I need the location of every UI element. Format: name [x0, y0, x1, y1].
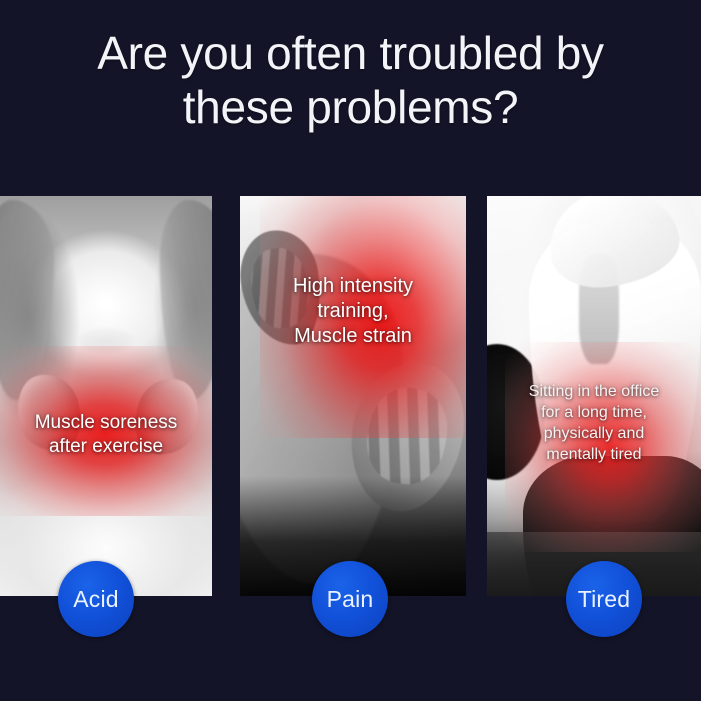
photo-arm-right	[160, 200, 212, 400]
photo-arm-left	[0, 200, 54, 400]
problem-panel-strip: Muscle soreness after exercise High inte…	[0, 196, 701, 596]
panel-tired[interactable]: Sitting in the office for a long time, p…	[487, 196, 701, 596]
panel-acid[interactable]: Muscle soreness after exercise	[0, 196, 212, 596]
panel-caption: High intensity training, Muscle strain	[240, 274, 466, 349]
page-title: Are you often troubled by these problems…	[0, 26, 701, 134]
panel-caption: Sitting in the office for a long time, p…	[487, 381, 701, 465]
panel-caption: Muscle soreness after exercise	[0, 411, 212, 459]
photo-hands-gripping-knee	[240, 196, 466, 596]
panel-pain[interactable]: High intensity training, Muscle strain	[240, 196, 466, 596]
badge-pain[interactable]: Pain	[312, 561, 388, 637]
badge-acid[interactable]: Acid	[58, 561, 134, 637]
promo-poster: Are you often troubled by these problems…	[0, 0, 701, 701]
badge-tired[interactable]: Tired	[566, 561, 642, 637]
photo-woman-lower-back	[0, 196, 212, 596]
